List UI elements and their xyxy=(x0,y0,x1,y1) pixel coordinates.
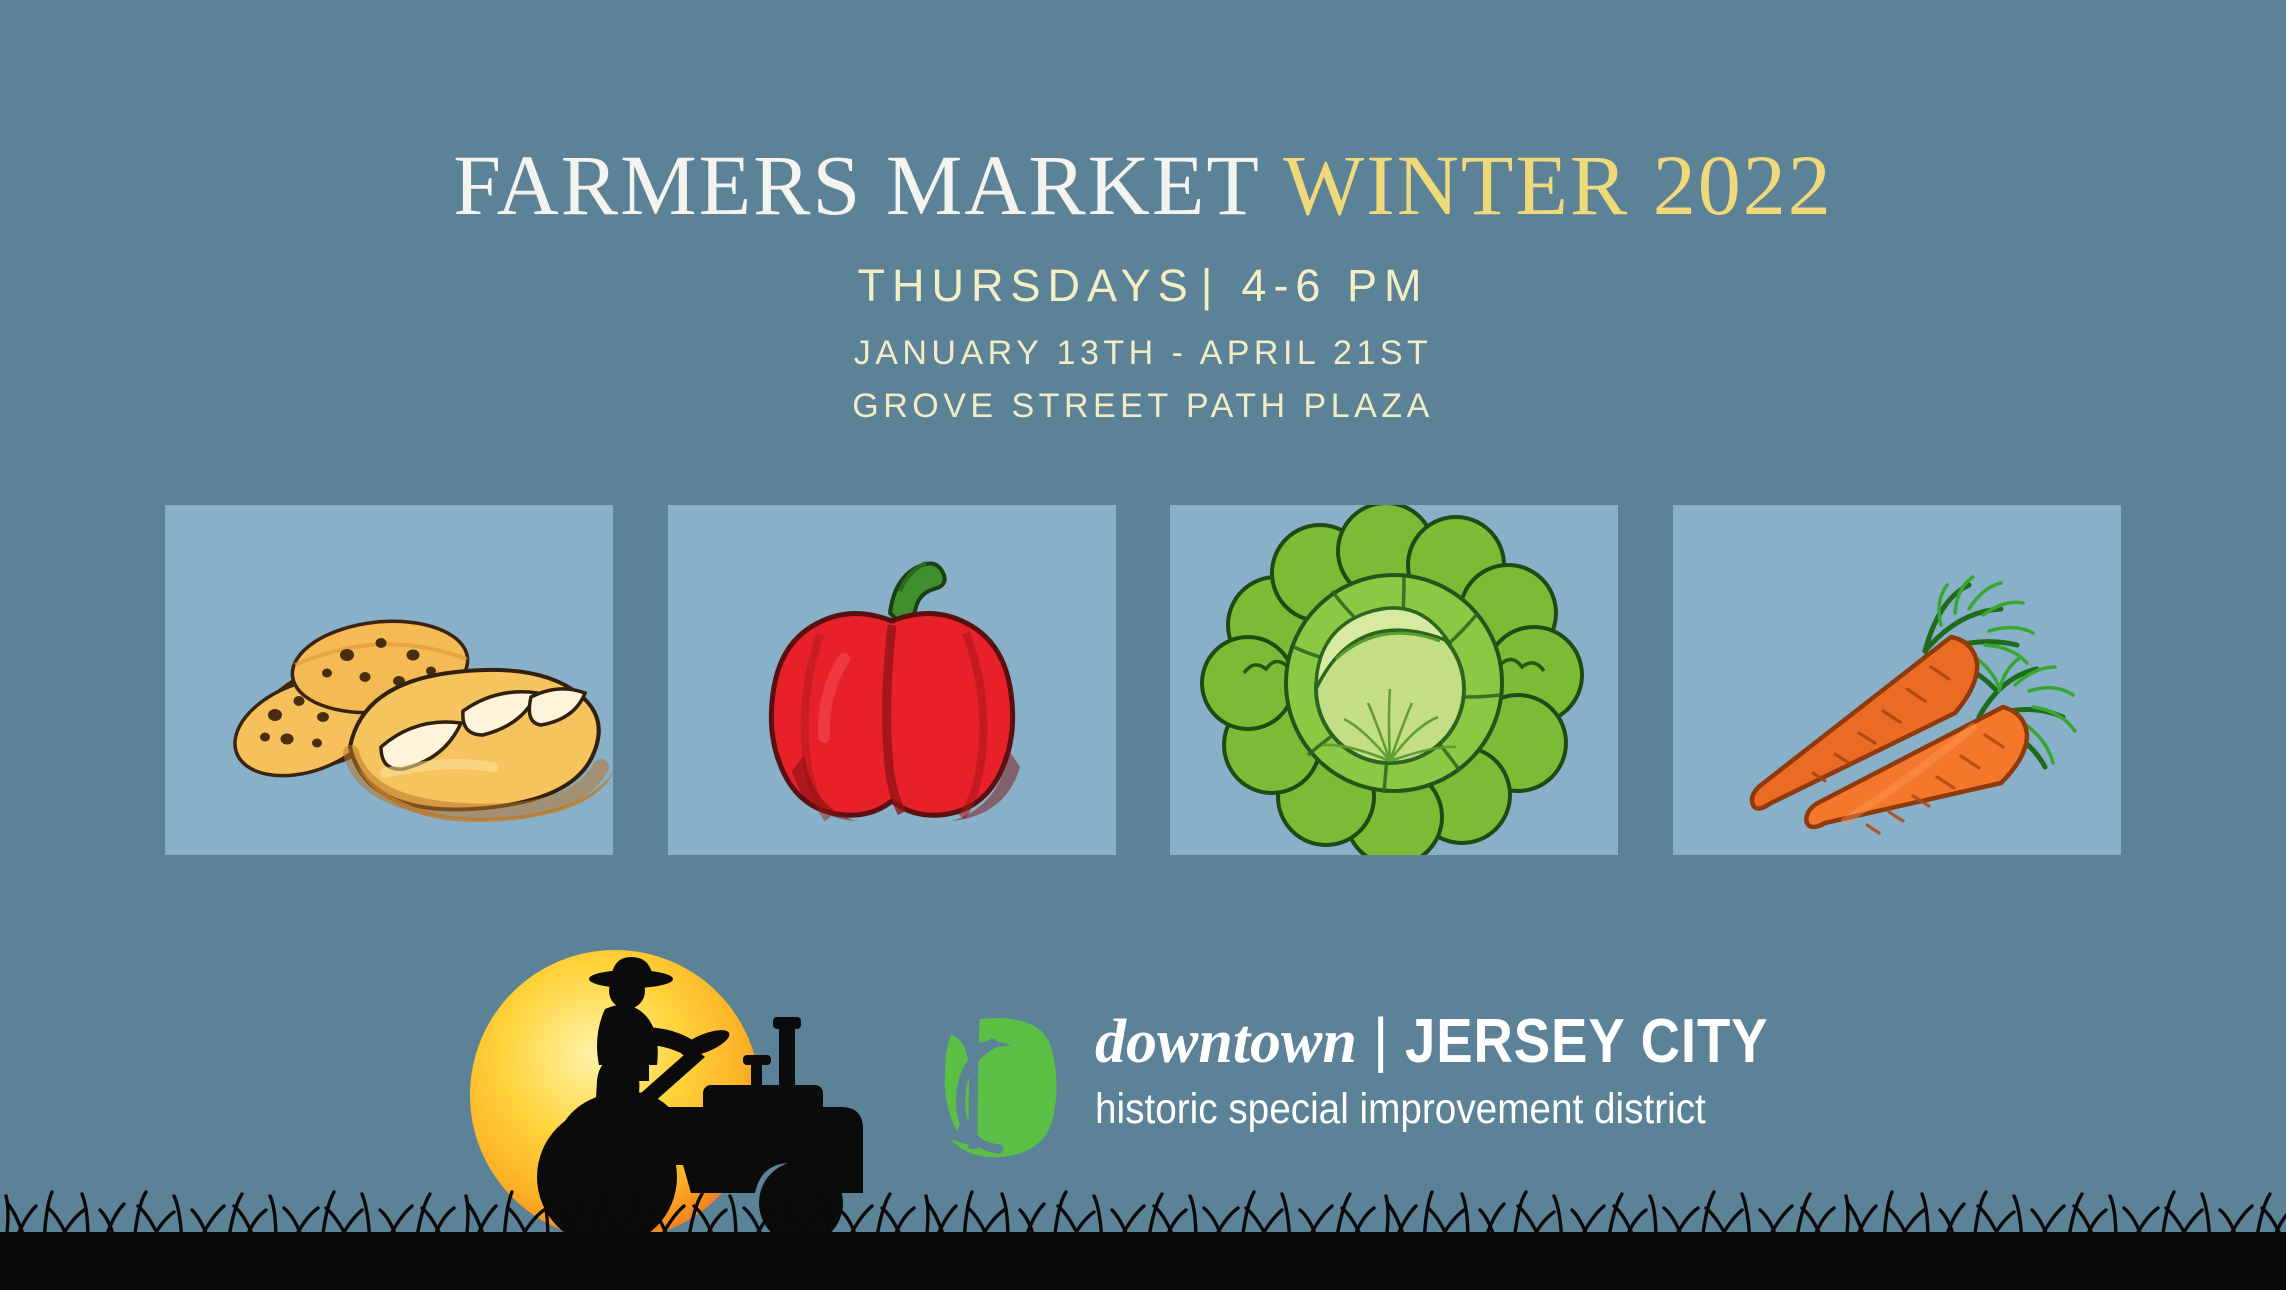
schedule-time: 4-6 PM xyxy=(1241,260,1428,311)
produce-tile-carrots xyxy=(1673,505,2121,855)
logo-primary-line: downtown | JERSEY CITY xyxy=(1095,1011,1818,1073)
cabbage-icon xyxy=(1170,505,1618,855)
schedule-separator: | xyxy=(1201,260,1220,311)
bell-pepper-icon xyxy=(668,505,1116,855)
title-accent: WINTER 2022 xyxy=(1283,137,1833,233)
grass-silhouette xyxy=(0,1170,2286,1290)
location: GROVE STREET PATH PLAZA xyxy=(0,387,2286,426)
bread-icon xyxy=(165,505,613,855)
grass-icon xyxy=(0,1170,2286,1290)
produce-tile-cabbage xyxy=(1170,505,1618,855)
schedule-line: THURSDAYS|4-6 PM xyxy=(0,260,2286,312)
produce-tile-bread xyxy=(165,505,613,855)
produce-tile-bell-pepper xyxy=(668,505,1116,855)
logo-downtown-word: downtown xyxy=(1095,1011,1357,1073)
downtown-jersey-city-logo[interactable]: downtown | JERSEY CITY historic special … xyxy=(935,1005,1818,1165)
schedule-day: THURSDAYS xyxy=(858,260,1195,311)
logo-tagline: historic special improvement district xyxy=(1095,1085,1745,1134)
logo-jersey-city-word: JERSEY CITY xyxy=(1405,1011,1768,1073)
carrots-icon xyxy=(1673,505,2121,855)
heading-block: FARMERS MARKETWINTER 2022 THURSDAYS|4-6 … xyxy=(0,140,2286,426)
date-range: JANUARY 13TH - APRIL 21ST xyxy=(0,334,2286,373)
jc-leaf-monogram-icon xyxy=(935,1005,1065,1165)
logo-divider: | xyxy=(1373,1010,1389,1070)
farmers-market-poster: FARMERS MARKETWINTER 2022 THURSDAYS|4-6 … xyxy=(0,0,2286,1290)
page-title: FARMERS MARKETWINTER 2022 xyxy=(0,140,2286,230)
produce-tile-row xyxy=(165,505,2121,855)
logo-text-block: downtown | JERSEY CITY historic special … xyxy=(1095,1005,1818,1134)
title-main: FARMERS MARKET xyxy=(453,137,1261,233)
